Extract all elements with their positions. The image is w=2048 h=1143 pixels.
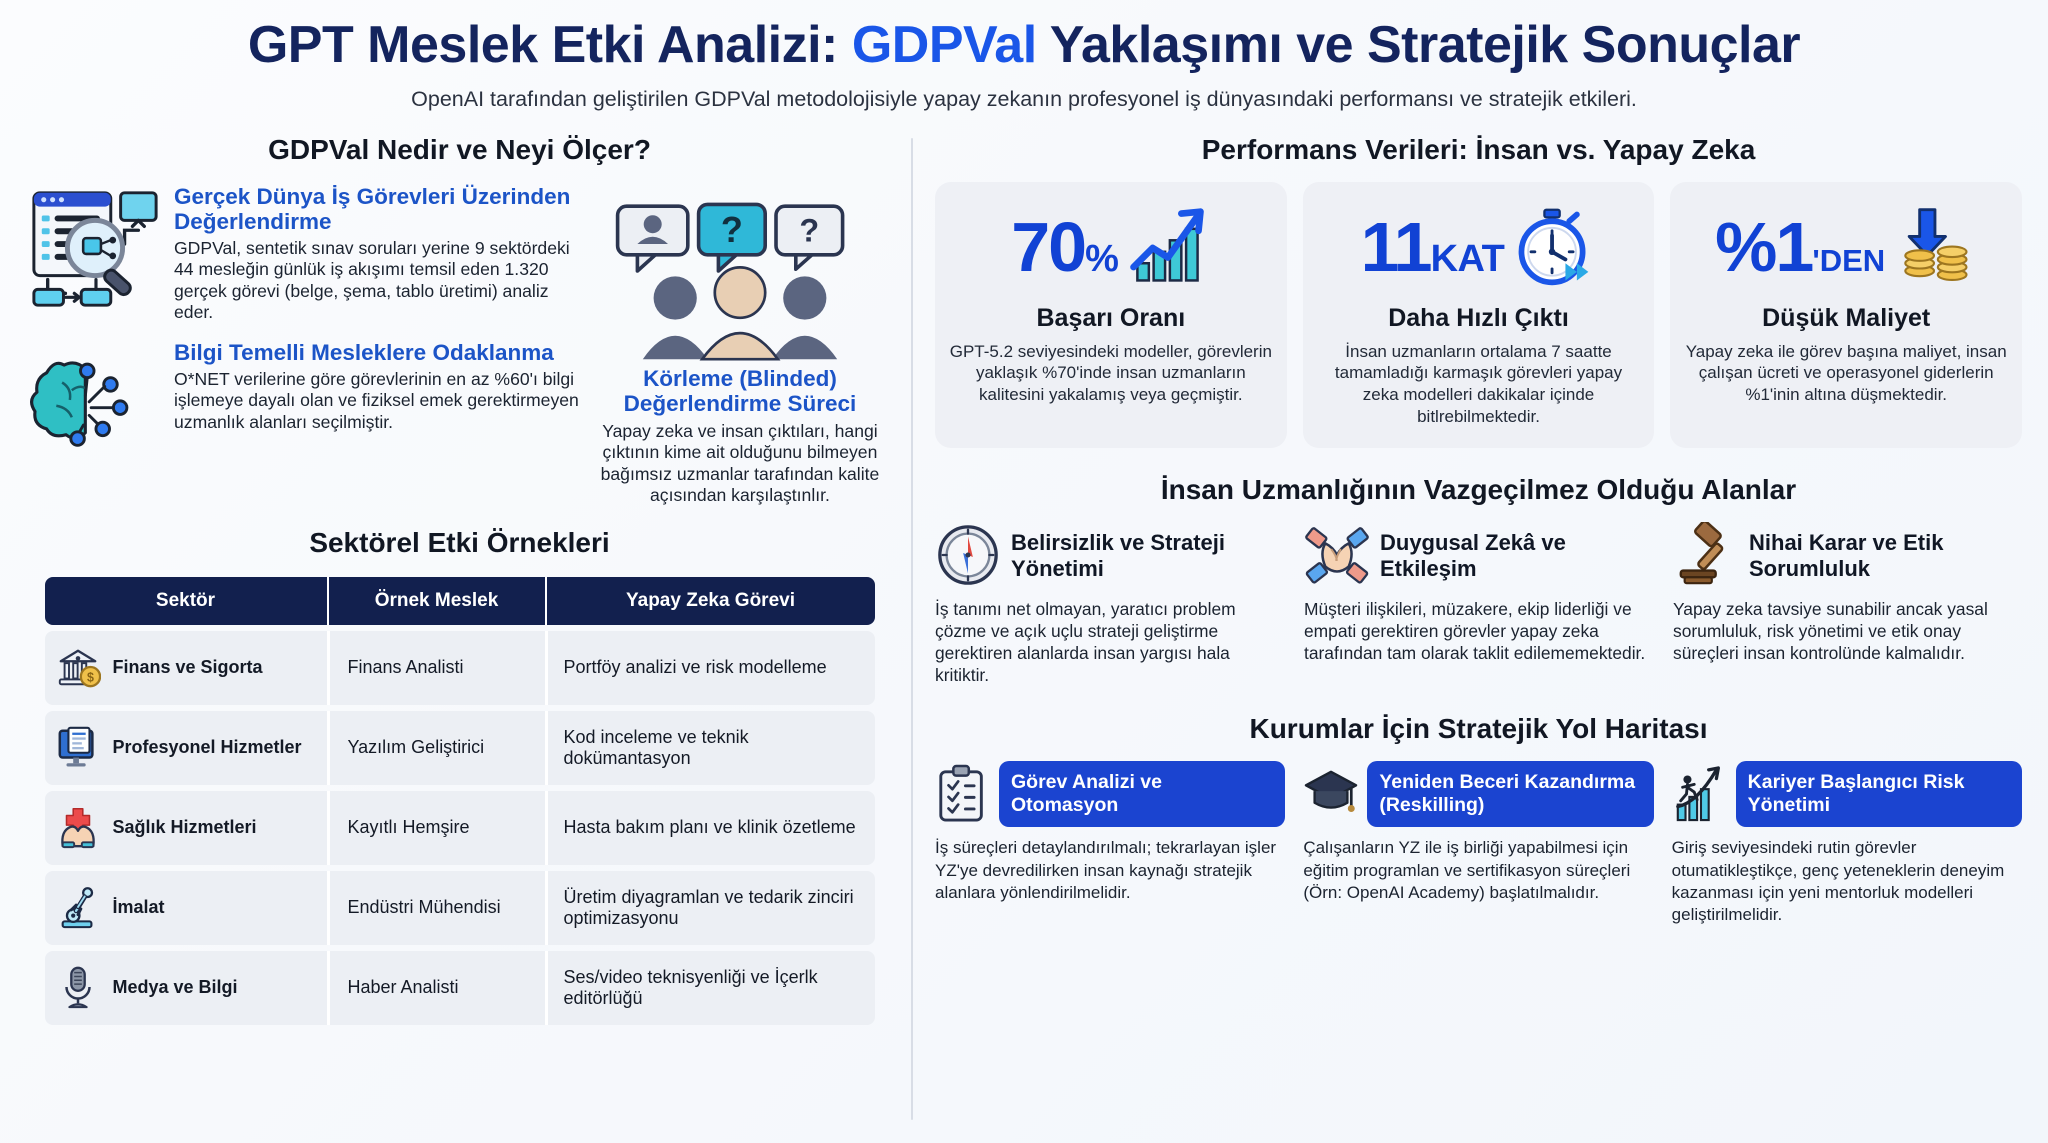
table-cell-job: Kayıtlı Hemşire bbox=[327, 791, 545, 865]
left-section-title: GDPVal Nedir ve Neyi Ölçer? bbox=[26, 134, 893, 166]
right-column: Performans Verileri: İnsan vs. Yapay Zek… bbox=[929, 134, 2022, 1124]
table-cell-task: Kod inceleme ve teknik dokümantasyon bbox=[545, 711, 875, 785]
stat-value-suffix: KAT bbox=[1431, 238, 1505, 280]
roadmap-body: Çalışanların YZ ile iş birliği yapabilme… bbox=[1303, 837, 1653, 903]
table-title: Sektörel Etki Örnekleri bbox=[26, 527, 893, 559]
human-area-body: Yapay zeka tavsiye sunabilir ancak yasal… bbox=[1673, 598, 2022, 665]
page-title-accent: GDPVal bbox=[852, 16, 1037, 74]
svg-text:?: ? bbox=[721, 209, 743, 250]
table-row: Medya ve Bilgi Haber Analisti Ses/video … bbox=[45, 951, 875, 1025]
roadmap-item-task-analysis: Görev Analizi ve Otomasyon İş süreçleri … bbox=[935, 761, 1285, 926]
table-cell-sector: İmalat bbox=[113, 897, 165, 918]
human-area-title: Belirsizlik ve Strateji Yönetimi bbox=[1011, 530, 1284, 582]
table-row: Sağlık Hizmetleri Kayıtlı Hemşire Hasta … bbox=[45, 791, 875, 865]
stat-value-suffix: % bbox=[1085, 238, 1118, 280]
roadmap-item-reskilling: Yeniden Beceri Kazandırma (Reskilling) Ç… bbox=[1303, 761, 1653, 926]
svg-text:?: ? bbox=[799, 212, 819, 248]
feature-real-world-tasks: Gerçek Dünya İş Görevleri Üzerinden Değe… bbox=[26, 182, 579, 324]
roadmap-pill: Yeniden Beceri Kazandırma (Reskilling) bbox=[1367, 761, 1653, 828]
roadmap-section: Kurumlar İçin Stratejik Yol Haritası bbox=[935, 713, 2022, 926]
stat-card-low-cost: %1'DEN bbox=[1670, 182, 2022, 448]
table-row: $ Finans ve Sigorta Finans Analisti Port… bbox=[45, 631, 875, 705]
growth-chart-icon bbox=[1124, 204, 1210, 290]
table-cell-sector: Profesyonel Hizmetler bbox=[113, 737, 302, 758]
health-hands-icon bbox=[55, 804, 101, 852]
feature-knowledge-jobs: Bilgi Temelli Mesleklere Odaklanma O*NET… bbox=[26, 338, 579, 470]
blinded-body: Yapay zeka ve insan çıktıları, hangi çık… bbox=[587, 421, 893, 507]
human-areas-section: İnsan Uzmanlığının Vazgeçilmez Olduğu Al… bbox=[935, 474, 2022, 687]
table-cell-sector: Sağlık Hizmetleri bbox=[113, 817, 257, 838]
content-columns: GDPVal Nedir ve Neyi Ölçer? bbox=[26, 134, 2022, 1124]
bank-coin-icon: $ bbox=[55, 644, 101, 692]
human-areas-title: İnsan Uzmanlığının Vazgeçilmez Olduğu Al… bbox=[935, 474, 2022, 506]
people-chat-icon: ? ? bbox=[587, 196, 893, 366]
stat-body: İnsan uzmanların ortalama 7 saatte tamam… bbox=[1317, 341, 1641, 428]
human-area-body: Müşteri ilişkileri, müzakere, ekip lider… bbox=[1304, 598, 1653, 665]
stat-label: Daha Hızlı Çıktı bbox=[1317, 304, 1641, 333]
stat-value-suffix: 'DEN bbox=[1812, 243, 1885, 278]
table-cell-job: Yazılım Geliştirici bbox=[327, 711, 545, 785]
stat-value: 11 bbox=[1361, 208, 1431, 286]
infographic-page: GPT Meslek Etki Analizi: GDPVal Yaklaşım… bbox=[0, 0, 2048, 1143]
stat-card-success-rate: 70% Başarı Oranı bbox=[935, 182, 1287, 448]
table-cell-sector: Finans ve Sigorta bbox=[113, 657, 263, 678]
roadmap-list: Görev Analizi ve Otomasyon İş süreçleri … bbox=[935, 761, 2022, 926]
feature-text: Bilgi Temelli Mesleklere Odaklanma O*NET… bbox=[174, 338, 579, 434]
blinded-title: Körleme (Blinded) Değerlendirme Süreci bbox=[587, 366, 893, 417]
stat-label: Başarı Oranı bbox=[949, 304, 1273, 333]
roadmap-title: Kurumlar İçin Stratejik Yol Haritası bbox=[935, 713, 2022, 745]
stat-body: Yapay zeka ile görev başına maliyet, ins… bbox=[1684, 341, 2008, 406]
column-divider bbox=[911, 138, 913, 1120]
monitor-doc-icon bbox=[55, 724, 101, 772]
table-cell-sector: Medya ve Bilgi bbox=[113, 977, 238, 998]
page-title: GPT Meslek Etki Analizi: GDPVal Yaklaşım… bbox=[26, 18, 2022, 73]
document-search-icon bbox=[26, 182, 164, 314]
stat-card-speed: 11KAT bbox=[1303, 182, 1655, 448]
human-area-ethics: Nihai Karar ve Etik Sorumluluk Yapay zek… bbox=[1673, 522, 2022, 687]
human-area-uncertainty: Belirsizlik ve Strateji Yönetimi İş tanı… bbox=[935, 522, 1284, 687]
table-cell-task: Üretim diyagramlan ve tedarik zinciri op… bbox=[545, 871, 875, 945]
roadmap-pill: Kariyer Başlangıcı Risk Yönetimi bbox=[1736, 761, 2022, 828]
roadmap-body: Giriş seviyesindeki rutin görevler otuma… bbox=[1672, 837, 2022, 925]
roadmap-body: İş süreçleri detaylandırılmalı; tekrarla… bbox=[935, 837, 1285, 903]
feature-title: Bilgi Temelli Mesleklere Odaklanma bbox=[174, 340, 579, 365]
career-growth-icon bbox=[1672, 764, 1728, 824]
gavel-icon bbox=[1673, 522, 1739, 590]
roadmap-pill: Görev Analizi ve Otomasyon bbox=[999, 761, 1285, 828]
feature-title: Gerçek Dünya İş Görevleri Üzerinden Değe… bbox=[174, 184, 579, 234]
column-header-task: Yapay Zeka Görevi bbox=[545, 577, 875, 625]
performance-cards: 70% Başarı Oranı bbox=[935, 182, 2022, 448]
svg-text:$: $ bbox=[86, 670, 93, 684]
table-cell-task: Ses/video teknisyenliği ve İçerlk editör… bbox=[545, 951, 875, 1025]
table-header-row: Sektör Örnek Meslek Yapay Zeka Görevi bbox=[45, 577, 875, 625]
compass-icon bbox=[935, 522, 1001, 590]
stopwatch-fast-icon bbox=[1510, 204, 1596, 290]
stat-value: %1 bbox=[1715, 208, 1812, 286]
human-area-title: Duygusal Zekâ ve Etkileşim bbox=[1380, 530, 1653, 582]
page-title-part1: GPT Meslek Etki Analizi: bbox=[248, 16, 852, 74]
stat-label: Düşük Maliyet bbox=[1684, 304, 2008, 333]
table-cell-job: Endüstri Mühendisi bbox=[327, 871, 545, 945]
table-row: Profesyonel Hizmetler Yazılım Geliştiric… bbox=[45, 711, 875, 785]
graduation-cap-icon bbox=[1303, 764, 1359, 824]
brain-circuit-icon bbox=[26, 338, 164, 470]
feature-list: Gerçek Dünya İş Görevleri Üzerinden Değe… bbox=[26, 182, 579, 484]
feature-text: Gerçek Dünya İş Görevleri Üzerinden Değe… bbox=[174, 182, 579, 324]
feature-blinded-evaluation: ? ? Körleme (Blinded) Değerlendi bbox=[587, 182, 893, 507]
column-header-sector: Sektör bbox=[45, 577, 327, 625]
performance-section-title: Performans Verileri: İnsan vs. Yapay Zek… bbox=[935, 134, 2022, 166]
microphone-icon bbox=[55, 964, 101, 1012]
feature-body: GDPVal, sentetik sınav soruları yerine 9… bbox=[174, 238, 579, 324]
human-areas-list: Belirsizlik ve Strateji Yönetimi İş tanı… bbox=[935, 522, 2022, 687]
sector-table-section: Sektörel Etki Örnekleri Sektör Örnek Mes… bbox=[26, 527, 893, 1031]
feature-area: Gerçek Dünya İş Görevleri Üzerinden Değe… bbox=[26, 182, 893, 507]
coins-down-icon bbox=[1891, 204, 1977, 290]
feature-body: O*NET verilerine göre görevlerinin en az… bbox=[174, 369, 579, 433]
robot-arm-icon bbox=[55, 884, 101, 932]
stat-body: GPT-5.2 seviyesindeki modeller, görevler… bbox=[949, 341, 1273, 406]
header: GPT Meslek Etki Analizi: GDPVal Yaklaşım… bbox=[26, 18, 2022, 112]
page-subtitle: OpenAI tarafından geliştirilen GDPVal me… bbox=[26, 87, 2022, 112]
table-cell-task: Hasta bakım planı ve klinik özetleme bbox=[545, 791, 875, 865]
handshake-icon bbox=[1304, 522, 1370, 590]
table-cell-job: Haber Analisti bbox=[327, 951, 545, 1025]
human-area-body: İş tanımı net olmayan, yaratıcı problem … bbox=[935, 598, 1284, 687]
table-cell-task: Portföy analizi ve risk modelleme bbox=[545, 631, 875, 705]
roadmap-item-career-risk: Kariyer Başlangıcı Risk Yönetimi Giriş s… bbox=[1672, 761, 2022, 926]
human-area-title: Nihai Karar ve Etik Sorumluluk bbox=[1749, 530, 2022, 582]
table-row: İmalat Endüstri Mühendisi Üretim diyagra… bbox=[45, 871, 875, 945]
sector-impact-table: Sektör Örnek Meslek Yapay Zeka Görevi bbox=[45, 571, 875, 1031]
column-header-job: Örnek Meslek bbox=[327, 577, 545, 625]
stat-value: 70 bbox=[1011, 208, 1085, 286]
left-column: GDPVal Nedir ve Neyi Ölçer? bbox=[26, 134, 911, 1124]
page-title-part2: Yaklaşımı ve Stratejik Sonuçlar bbox=[1037, 16, 1800, 74]
clipboard-check-icon bbox=[935, 764, 991, 824]
human-area-emotional-intelligence: Duygusal Zekâ ve Etkileşim Müşteri ilişk… bbox=[1304, 522, 1653, 687]
table-cell-job: Finans Analisti bbox=[327, 631, 545, 705]
